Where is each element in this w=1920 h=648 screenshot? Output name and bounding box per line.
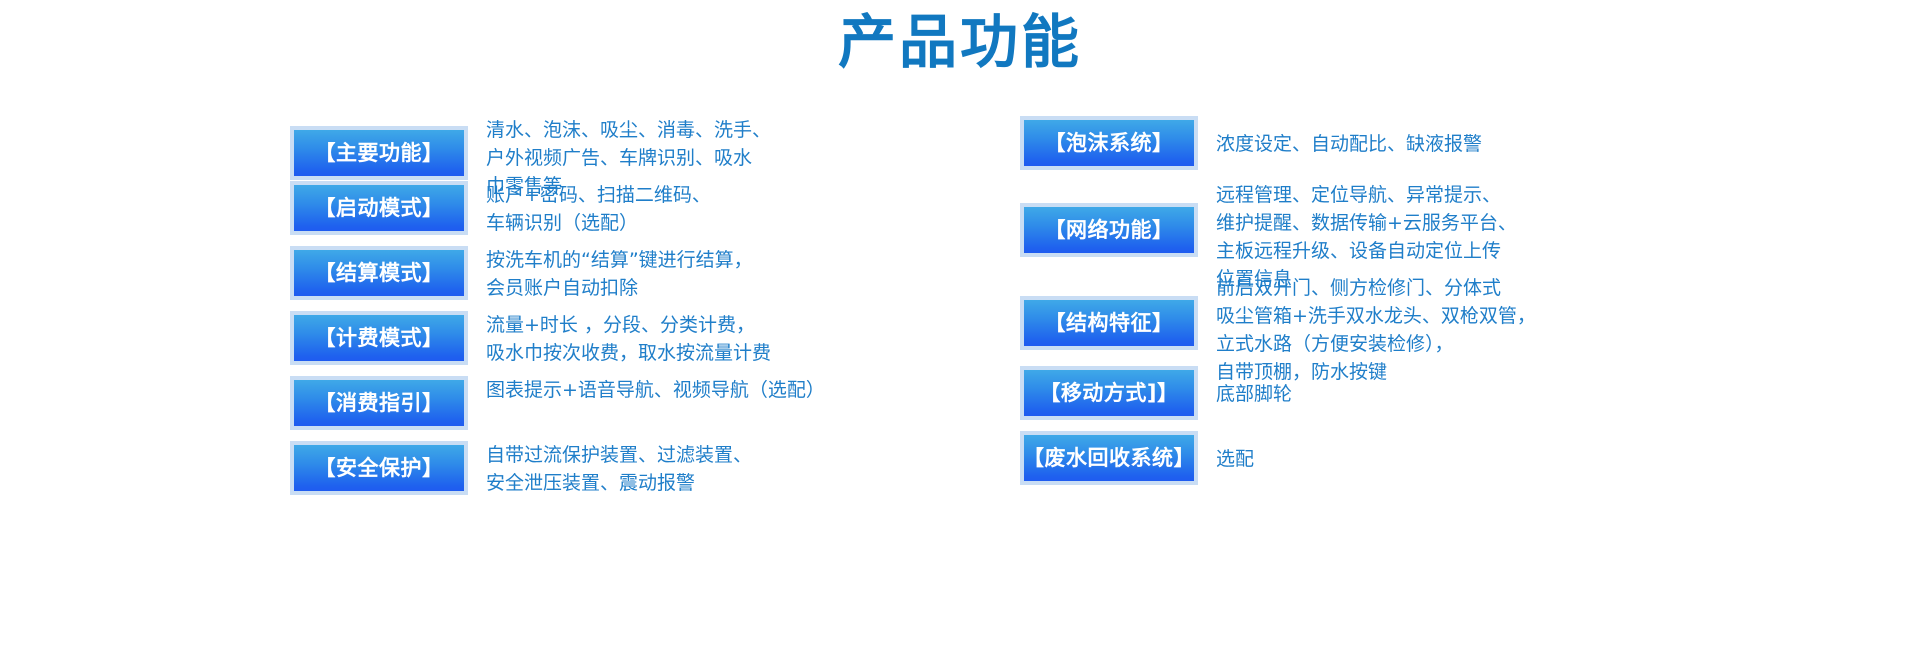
- product-features-page: 产品功能 【主要功能】清水、泡沫、吸尘、消毒、洗手、户外视频广告、车牌识别、吸水…: [0, 0, 1920, 648]
- feature-row: 【废水回收系统】选配: [1020, 431, 1254, 485]
- feature-badge-surface: 【启动模式】: [294, 185, 464, 231]
- feature-badge-label: 【安全保护】: [315, 458, 444, 479]
- feature-description-line: 自带过流保护装置、过滤装置、: [486, 441, 752, 469]
- feature-badge-surface: 【结算模式】: [294, 250, 464, 296]
- feature-description-line: 图表提示+语音导航、视频导航（选配）: [486, 376, 825, 404]
- feature-badge-label: 【计费模式】: [315, 328, 444, 349]
- feature-row: 【移动方式]】底部脚轮: [1020, 366, 1292, 420]
- feature-description-line: 按洗车机的“结算”键进行结算，: [486, 246, 753, 274]
- feature-row: 【结算模式】按洗车机的“结算”键进行结算，会员账户自动扣除: [290, 246, 753, 302]
- feature-description-line: 维护提醒、数据传输+云服务平台、: [1216, 209, 1517, 237]
- page-title: 产品功能: [0, 6, 1920, 78]
- feature-description: 图表提示+语音导航、视频导航（选配）: [468, 376, 825, 404]
- features-columns: 【主要功能】清水、泡沫、吸尘、消毒、洗手、户外视频广告、车牌识别、吸水巾零售等【…: [0, 104, 1920, 648]
- feature-description-line: 流量+时长 ，分段、分类计费，: [486, 311, 771, 339]
- feature-badge-surface: 【计费模式】: [294, 315, 464, 361]
- feature-badge-surface: 【泡沫系统】: [1024, 120, 1194, 166]
- feature-badge[interactable]: 【计费模式】: [290, 311, 468, 365]
- feature-badge-surface: 【网络功能】: [1024, 207, 1194, 253]
- feature-badge-label: 【移动方式]】: [1039, 383, 1178, 404]
- feature-description: 流量+时长 ，分段、分类计费，吸水巾按次收费，取水按流量计费: [468, 311, 771, 367]
- feature-badge-label: 【结构特征】: [1045, 313, 1174, 334]
- feature-row: 【计费模式】流量+时长 ，分段、分类计费，吸水巾按次收费，取水按流量计费: [290, 311, 771, 367]
- feature-badge-surface: 【主要功能】: [294, 130, 464, 176]
- feature-description-line: 吸尘管箱+洗手双水龙头、双枪双管，: [1216, 302, 1536, 330]
- feature-row: 【泡沫系统】浓度设定、自动配比、缺液报警: [1020, 116, 1482, 170]
- feature-row: 【消费指引】图表提示+语音导航、视频导航（选配）: [290, 376, 825, 430]
- feature-description-line: 车辆识别（选配）: [486, 209, 711, 237]
- feature-description-line: 会员账户自动扣除: [486, 274, 753, 302]
- feature-description: 账户+密码、扫描二维码、车辆识别（选配）: [468, 181, 711, 237]
- feature-description: 自带过流保护装置、过滤装置、安全泄压装置、震动报警: [468, 441, 752, 497]
- feature-badge-label: 【网络功能】: [1045, 220, 1174, 241]
- feature-description-line: 清水、泡沫、吸尘、消毒、洗手、: [486, 116, 771, 144]
- feature-badge-surface: 【结构特征】: [1024, 300, 1194, 346]
- feature-description: 选配: [1198, 445, 1254, 473]
- feature-badge[interactable]: 【废水回收系统】: [1020, 431, 1198, 485]
- feature-badge[interactable]: 【启动模式】: [290, 181, 468, 235]
- feature-description-line: 立式水路（方便安装检修），: [1216, 330, 1536, 358]
- feature-description-line: 安全泄压装置、震动报警: [486, 469, 752, 497]
- feature-badge[interactable]: 【网络功能】: [1020, 203, 1198, 257]
- feature-badge-surface: 【消费指引】: [294, 380, 464, 426]
- feature-badge-label: 【主要功能】: [315, 143, 444, 164]
- feature-description-line: 吸水巾按次收费，取水按流量计费: [486, 339, 771, 367]
- feature-description-line: 浓度设定、自动配比、缺液报警: [1216, 130, 1482, 158]
- feature-badge-surface: 【移动方式]】: [1024, 370, 1194, 416]
- feature-row: 【启动模式】账户+密码、扫描二维码、车辆识别（选配）: [290, 181, 711, 237]
- feature-row: 【安全保护】自带过流保护装置、过滤装置、安全泄压装置、震动报警: [290, 441, 752, 497]
- feature-badge[interactable]: 【结构特征】: [1020, 296, 1198, 350]
- feature-description: 浓度设定、自动配比、缺液报警: [1198, 130, 1482, 158]
- feature-badge[interactable]: 【结算模式】: [290, 246, 468, 300]
- feature-description-line: 账户+密码、扫描二维码、: [486, 181, 711, 209]
- feature-description: 按洗车机的“结算”键进行结算，会员账户自动扣除: [468, 246, 753, 302]
- feature-badge-surface: 【安全保护】: [294, 445, 464, 491]
- feature-badge-label: 【消费指引】: [315, 393, 444, 414]
- feature-badge-label: 【结算模式】: [315, 263, 444, 284]
- feature-description-line: 底部脚轮: [1216, 380, 1292, 408]
- feature-badge-label: 【废水回收系统】: [1023, 448, 1195, 469]
- feature-badge[interactable]: 【主要功能】: [290, 126, 468, 180]
- feature-description-line: 选配: [1216, 445, 1254, 473]
- feature-badge[interactable]: 【移动方式]】: [1020, 366, 1198, 420]
- feature-badge[interactable]: 【泡沫系统】: [1020, 116, 1198, 170]
- feature-description-line: 远程管理、定位导航、异常提示、: [1216, 181, 1517, 209]
- feature-badge-label: 【泡沫系统】: [1045, 133, 1174, 154]
- feature-description: 底部脚轮: [1198, 380, 1292, 408]
- feature-badge-surface: 【废水回收系统】: [1024, 435, 1194, 481]
- feature-badge[interactable]: 【消费指引】: [290, 376, 468, 430]
- feature-description-line: 户外视频广告、车牌识别、吸水: [486, 144, 771, 172]
- feature-badge-label: 【启动模式】: [315, 198, 444, 219]
- feature-description-line: 主板远程升级、设备自动定位上传: [1216, 237, 1517, 265]
- feature-description-line: 前后双开门、侧方检修门、分体式: [1216, 274, 1536, 302]
- feature-badge[interactable]: 【安全保护】: [290, 441, 468, 495]
